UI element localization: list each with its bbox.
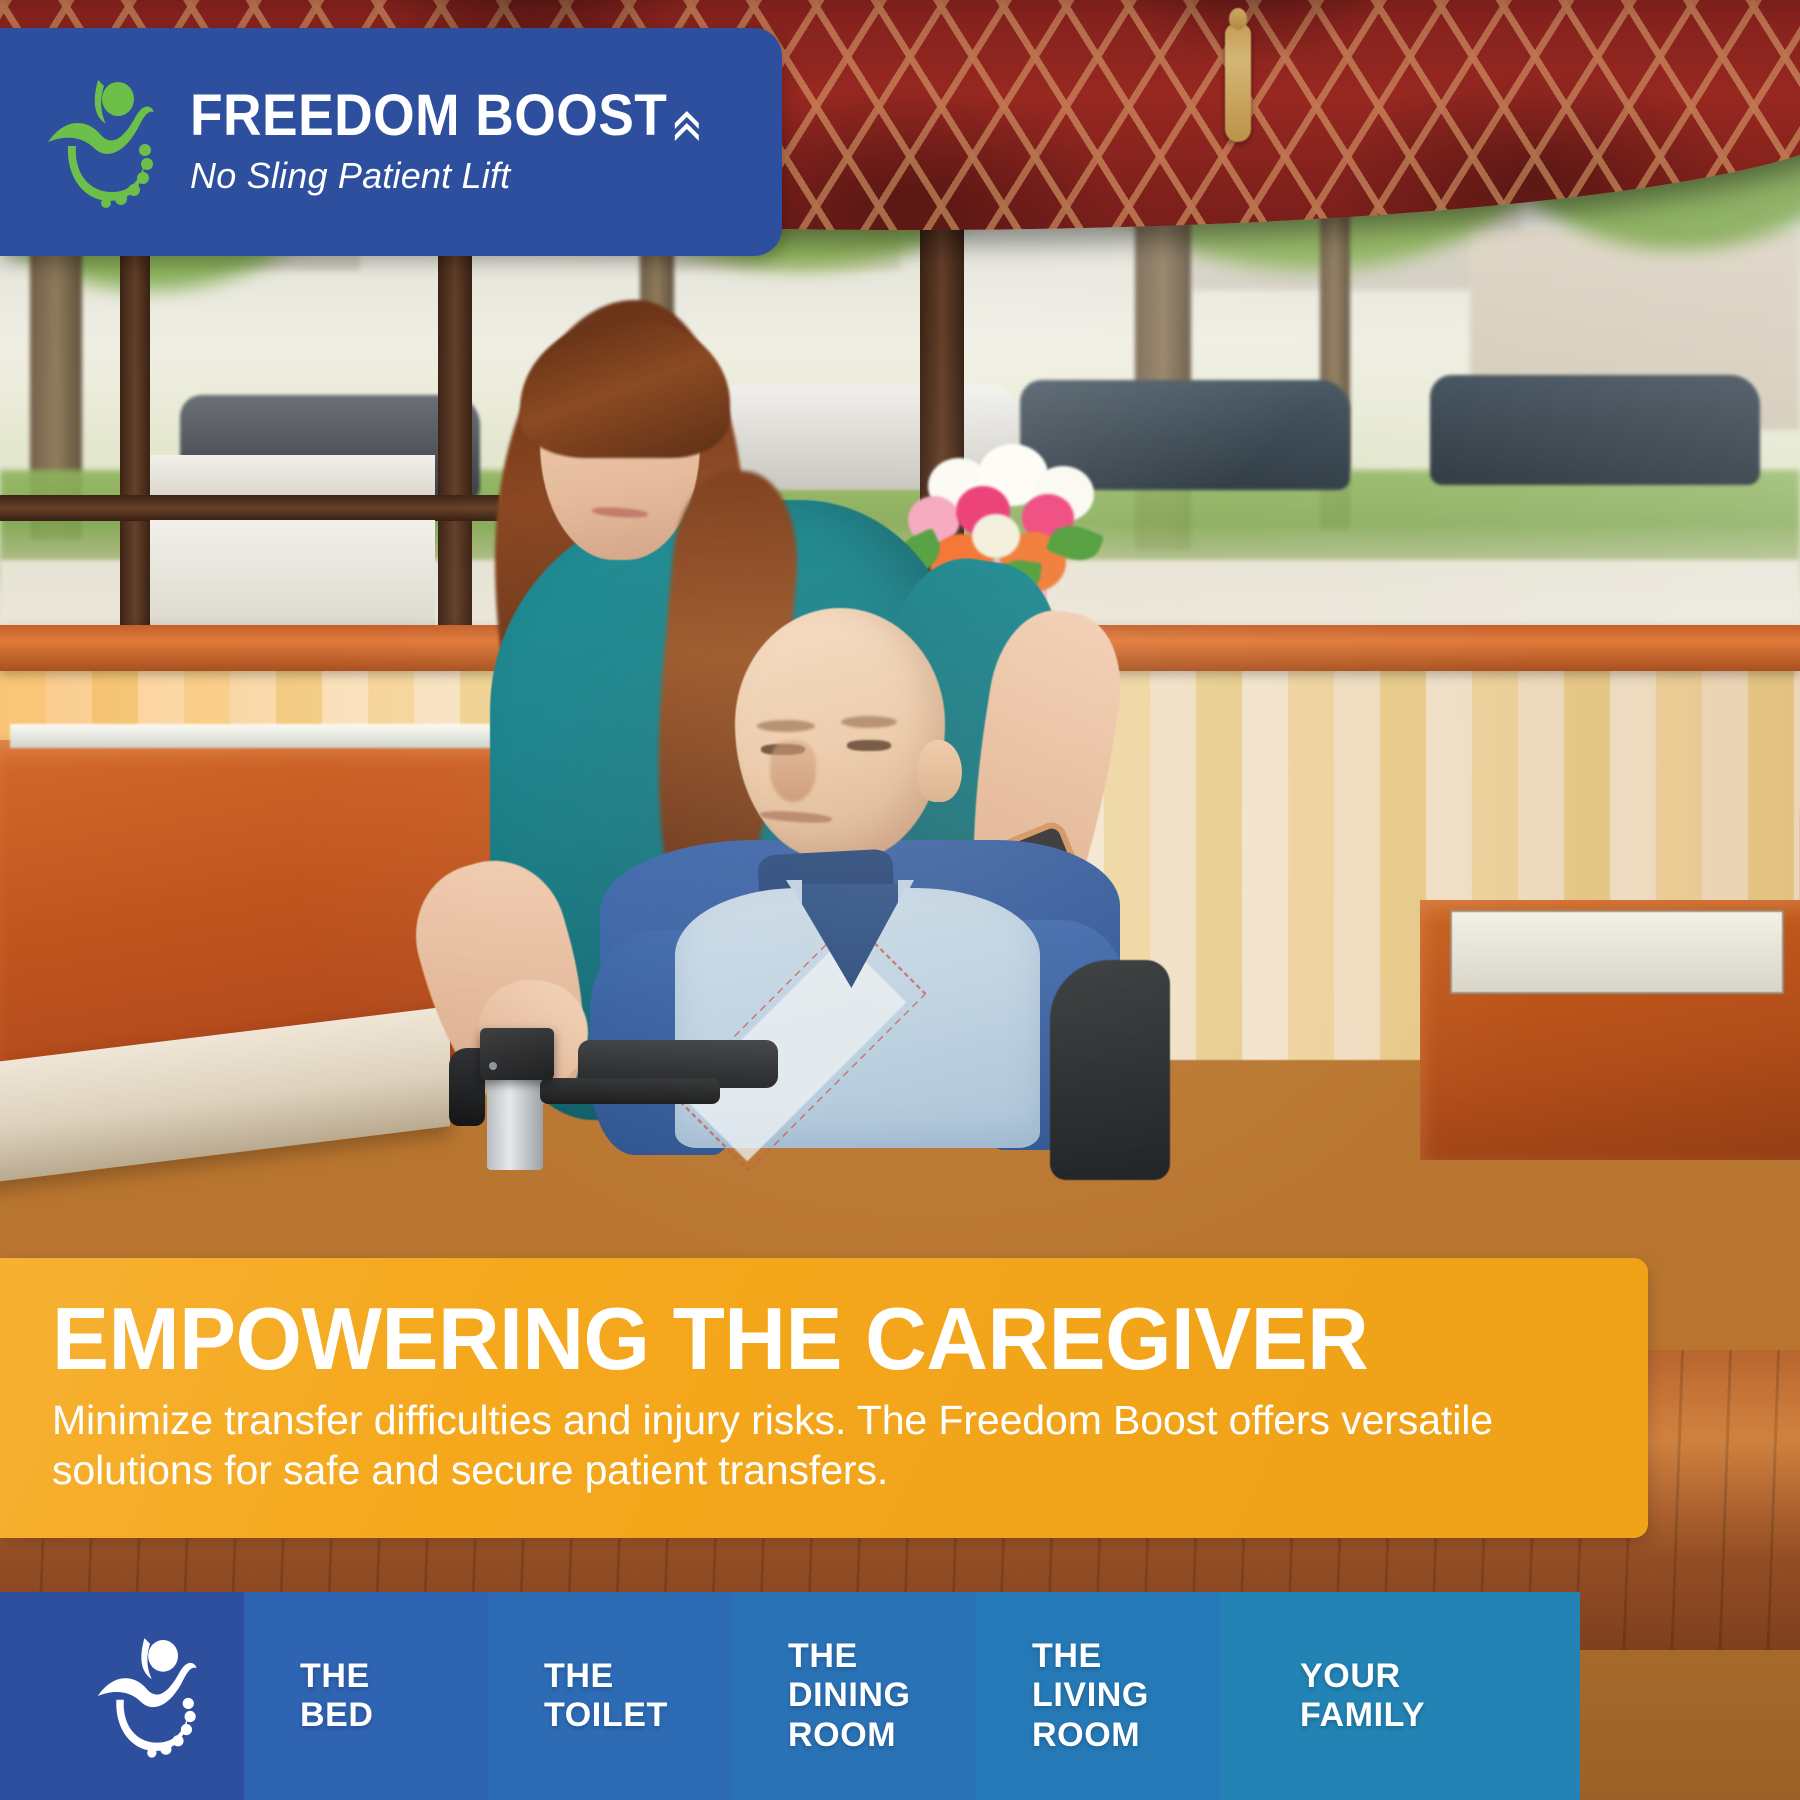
freedom-boost-figure-logo-white xyxy=(94,1629,206,1763)
freedom-boost-figure-logo xyxy=(44,72,164,212)
brand-name-text: FREEDOM BOOST xyxy=(190,87,667,145)
brand-logo-badge[interactable]: FREEDOM BOOST No Sling Patient Lift xyxy=(0,28,782,256)
nav-label-the-bed: THE BED xyxy=(300,1657,374,1736)
window-sash-mid xyxy=(150,455,435,495)
lift-control-box xyxy=(480,1028,554,1080)
patient-nose xyxy=(770,740,816,802)
car-4 xyxy=(1430,375,1760,485)
patient-brow-left xyxy=(757,720,815,732)
window-transom-bar xyxy=(0,495,500,521)
nav-label-your-family: YOUR FAMILY xyxy=(1300,1657,1425,1736)
nav-label-the-dining-room: THE DINING ROOM xyxy=(788,1637,911,1755)
lift-bar xyxy=(540,1078,720,1104)
window-mullion-1 xyxy=(120,190,150,660)
caregiver-mouth xyxy=(592,506,648,519)
nav-label-the-toilet: THE TOILET xyxy=(544,1657,668,1736)
wheelchair-backrest xyxy=(1050,960,1170,1180)
headline-banner: EMPOWERING THE CAREGIVER Minimize transf… xyxy=(0,1258,1648,1538)
curtain-tassel xyxy=(1225,24,1251,142)
patient-ear xyxy=(918,740,962,802)
use-case-nav: THE BED THE TOILET THE DINING ROOM THE L… xyxy=(0,1592,1800,1800)
nav-chevron-your-family[interactable]: YOUR FAMILY xyxy=(1220,1592,1580,1800)
patient-head xyxy=(735,608,945,860)
brand-tagline: No Sling Patient Lift xyxy=(190,155,745,197)
radiator-cover-right xyxy=(1420,900,1800,1160)
patient-brow-right xyxy=(841,716,897,728)
banner-subtext: Minimize transfer difficulties and injur… xyxy=(52,1395,1532,1495)
brand-name: FREEDOM BOOST xyxy=(190,87,700,145)
promo-graphic: FREEDOM BOOST No Sling Patient Lift EMPO… xyxy=(0,0,1800,1800)
window-lower-pane xyxy=(150,520,435,630)
nav-label-the-living-room: THE LIVING ROOM xyxy=(1032,1637,1149,1755)
chevron-up-arrow-icon xyxy=(673,97,701,143)
patient-eye-right xyxy=(847,740,891,751)
brand-text-block: FREEDOM BOOST No Sling Patient Lift xyxy=(190,87,745,197)
page-title: EMPOWERING THE CAREGIVER xyxy=(52,1296,1542,1381)
flower-cream xyxy=(972,514,1020,558)
window-mullion-2 xyxy=(438,190,472,660)
